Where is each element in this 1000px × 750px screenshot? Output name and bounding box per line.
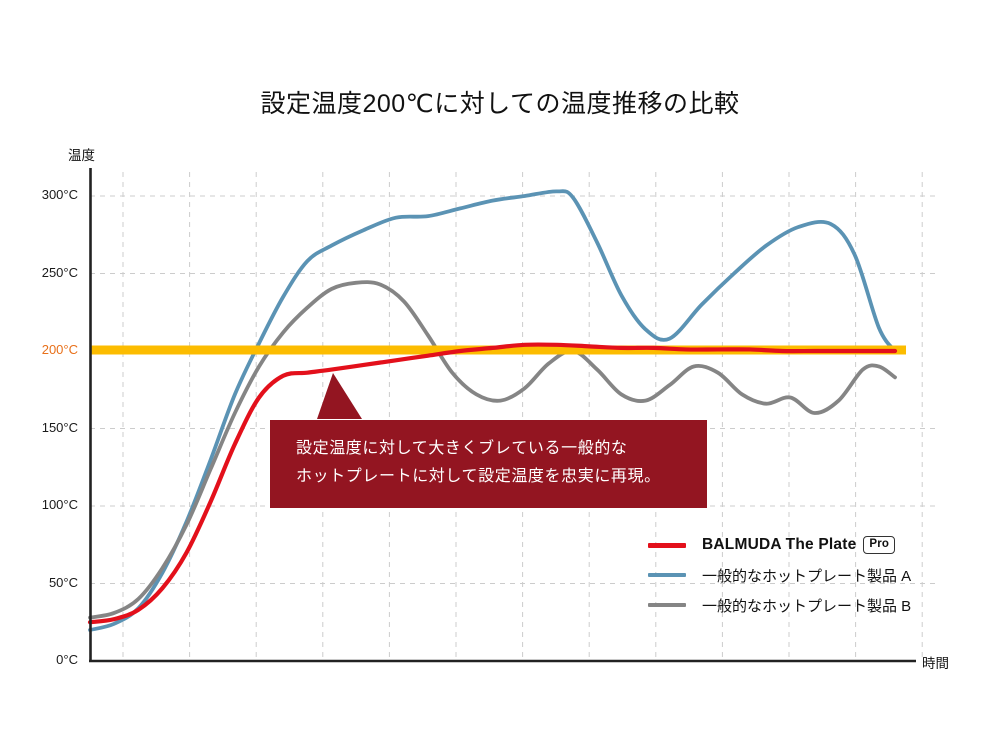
legend-item-0[interactable]: BALMUDA The PlatePro	[648, 530, 948, 560]
y-tick-label-250: 250°C	[18, 265, 78, 280]
y-tick-label-0: 0°C	[18, 652, 78, 667]
legend-item-2[interactable]: 一般的なホットプレート製品 B	[648, 590, 948, 620]
legend-swatch-icon	[648, 603, 686, 607]
y-tick-label-100: 100°C	[18, 497, 78, 512]
chart-page: 設定温度200℃に対しての温度推移の比較 温度 時間 設定温度に対して大きくブレ…	[0, 0, 1000, 750]
legend-label: 一般的なホットプレート製品 A	[702, 565, 911, 586]
temperature-line-chart	[0, 0, 1000, 750]
callout-line-1: 設定温度に対して大きくブレている一般的な	[296, 435, 683, 463]
y-tick-label-200: 200°C	[18, 342, 78, 357]
y-tick-label-150: 150°C	[18, 420, 78, 435]
legend-item-1[interactable]: 一般的なホットプレート製品 A	[648, 560, 948, 590]
callout-line-2: ホットプレートに対して設定温度を忠実に再現。	[296, 463, 683, 491]
y-tick-label-50: 50°C	[18, 575, 78, 590]
pro-badge: Pro	[863, 536, 895, 554]
callout-pointer-icon	[310, 373, 370, 423]
chart-legend: BALMUDA The PlatePro一般的なホットプレート製品 A一般的なホ…	[648, 530, 948, 620]
legend-label: 一般的なホットプレート製品 B	[702, 595, 911, 616]
legend-swatch-icon	[648, 543, 686, 548]
legend-label: BALMUDA The PlatePro	[702, 536, 895, 554]
legend-swatch-icon	[648, 573, 686, 577]
callout-annotation: 設定温度に対して大きくブレている一般的な ホットプレートに対して設定温度を忠実に…	[270, 420, 707, 508]
y-tick-label-300: 300°C	[18, 187, 78, 202]
